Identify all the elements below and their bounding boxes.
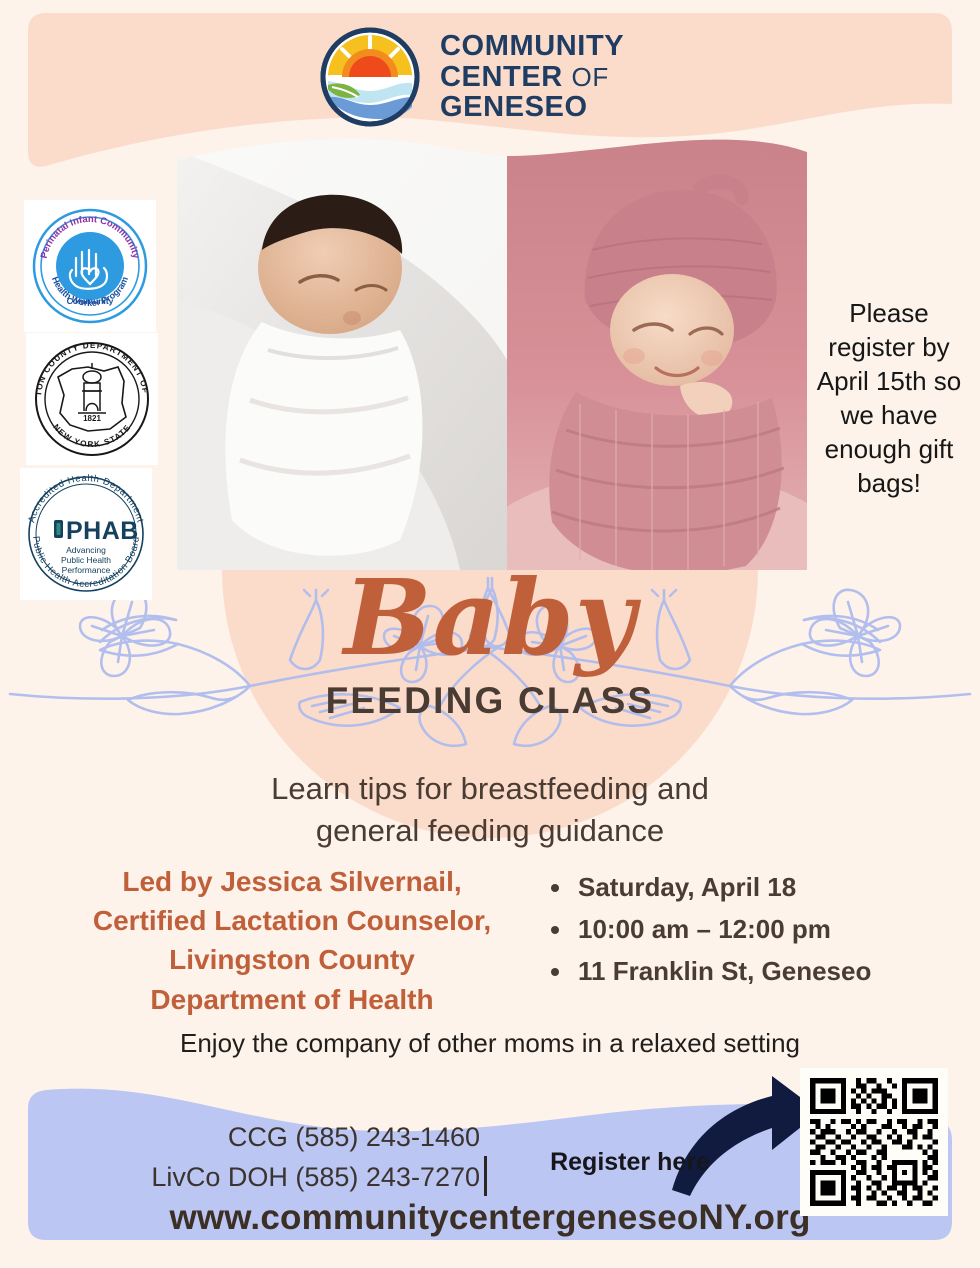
logo-wordmark: COMMUNITY CENTER OF GENESEO — [440, 31, 624, 123]
lead-line-2: general feeding guidance — [0, 810, 980, 852]
logo-line-2: CENTER OF — [440, 62, 624, 93]
page-title-script: Baby — [0, 566, 980, 670]
seal-2-year: 1821 — [83, 414, 101, 423]
logo-line-2a: CENTER — [440, 61, 563, 93]
livingston-county-department-of-health-seal: 1821 LIVINGSTON COUNTY DEPARTMENT OF HEA… — [26, 333, 158, 465]
event-details-list: Saturday, April 18 10:00 am – 12:00 pm 1… — [548, 866, 968, 992]
organization-logo: COMMUNITY CENTER OF GENESEO — [320, 27, 624, 127]
details-columns: Led by Jessica Silvernail, Certified Lac… — [0, 862, 980, 1022]
list-item: 10:00 am – 12:00 pm — [574, 908, 968, 950]
presenter-line-4: Department of Health — [52, 980, 532, 1019]
logo-line-3: GENESEO — [440, 92, 624, 123]
presenter-line-3: Livingston County — [52, 940, 532, 979]
page-title-subtitle: FEEDING CLASS — [0, 680, 980, 722]
phone-numbers: CCG (585) 243-1460 LivCo DOH (585) 243-7… — [60, 1118, 480, 1198]
seal-1-inner-bottom: Community — [67, 296, 114, 306]
vertical-divider — [484, 1156, 487, 1196]
lead-line-1: Learn tips for breastfeeding and — [0, 768, 980, 810]
tagline: Enjoy the company of other moms in a rel… — [0, 1028, 980, 1059]
presenter-block: Led by Jessica Silvernail, Certified Lac… — [52, 862, 532, 1019]
list-item: Saturday, April 18 — [574, 866, 968, 908]
flyer-page: COMMUNITY CENTER OF GENESEO Perinatal In… — [0, 0, 980, 1268]
lead-copy: Learn tips for breastfeeding and general… — [0, 768, 980, 852]
phone-livco-doh: LivCo DOH (585) 243-7270 — [60, 1158, 480, 1198]
register-by-note: Please register by April 15th so we have… — [806, 296, 972, 500]
logo-line-1: COMMUNITY — [440, 31, 624, 62]
register-here-label: Register here — [520, 1148, 740, 1177]
phone-ccg: CCG (585) 243-1460 — [60, 1118, 480, 1158]
seal-3-tagline-1: Advancing — [66, 545, 106, 555]
registration-qr-code[interactable] — [800, 1068, 948, 1216]
logo-line-2b: OF — [572, 62, 609, 92]
seal-3-tagline-2: Public Health — [61, 555, 111, 565]
presenter-line-1: Led by Jessica Silvernail, — [52, 862, 532, 901]
sun-landscape-circle-logo-icon — [320, 27, 420, 127]
header-band: COMMUNITY CENTER OF GENESEO — [28, 13, 952, 141]
perinatal-infant-community-health-collaborative-seal: Perinatal Infant Community Health Worker… — [24, 200, 156, 332]
seal-3-wordmark: PHAB — [66, 517, 139, 545]
list-item: 11 Franklin St, Geneseo — [574, 950, 968, 992]
presenter-line-2: Certified Lactation Counselor, — [52, 901, 532, 940]
